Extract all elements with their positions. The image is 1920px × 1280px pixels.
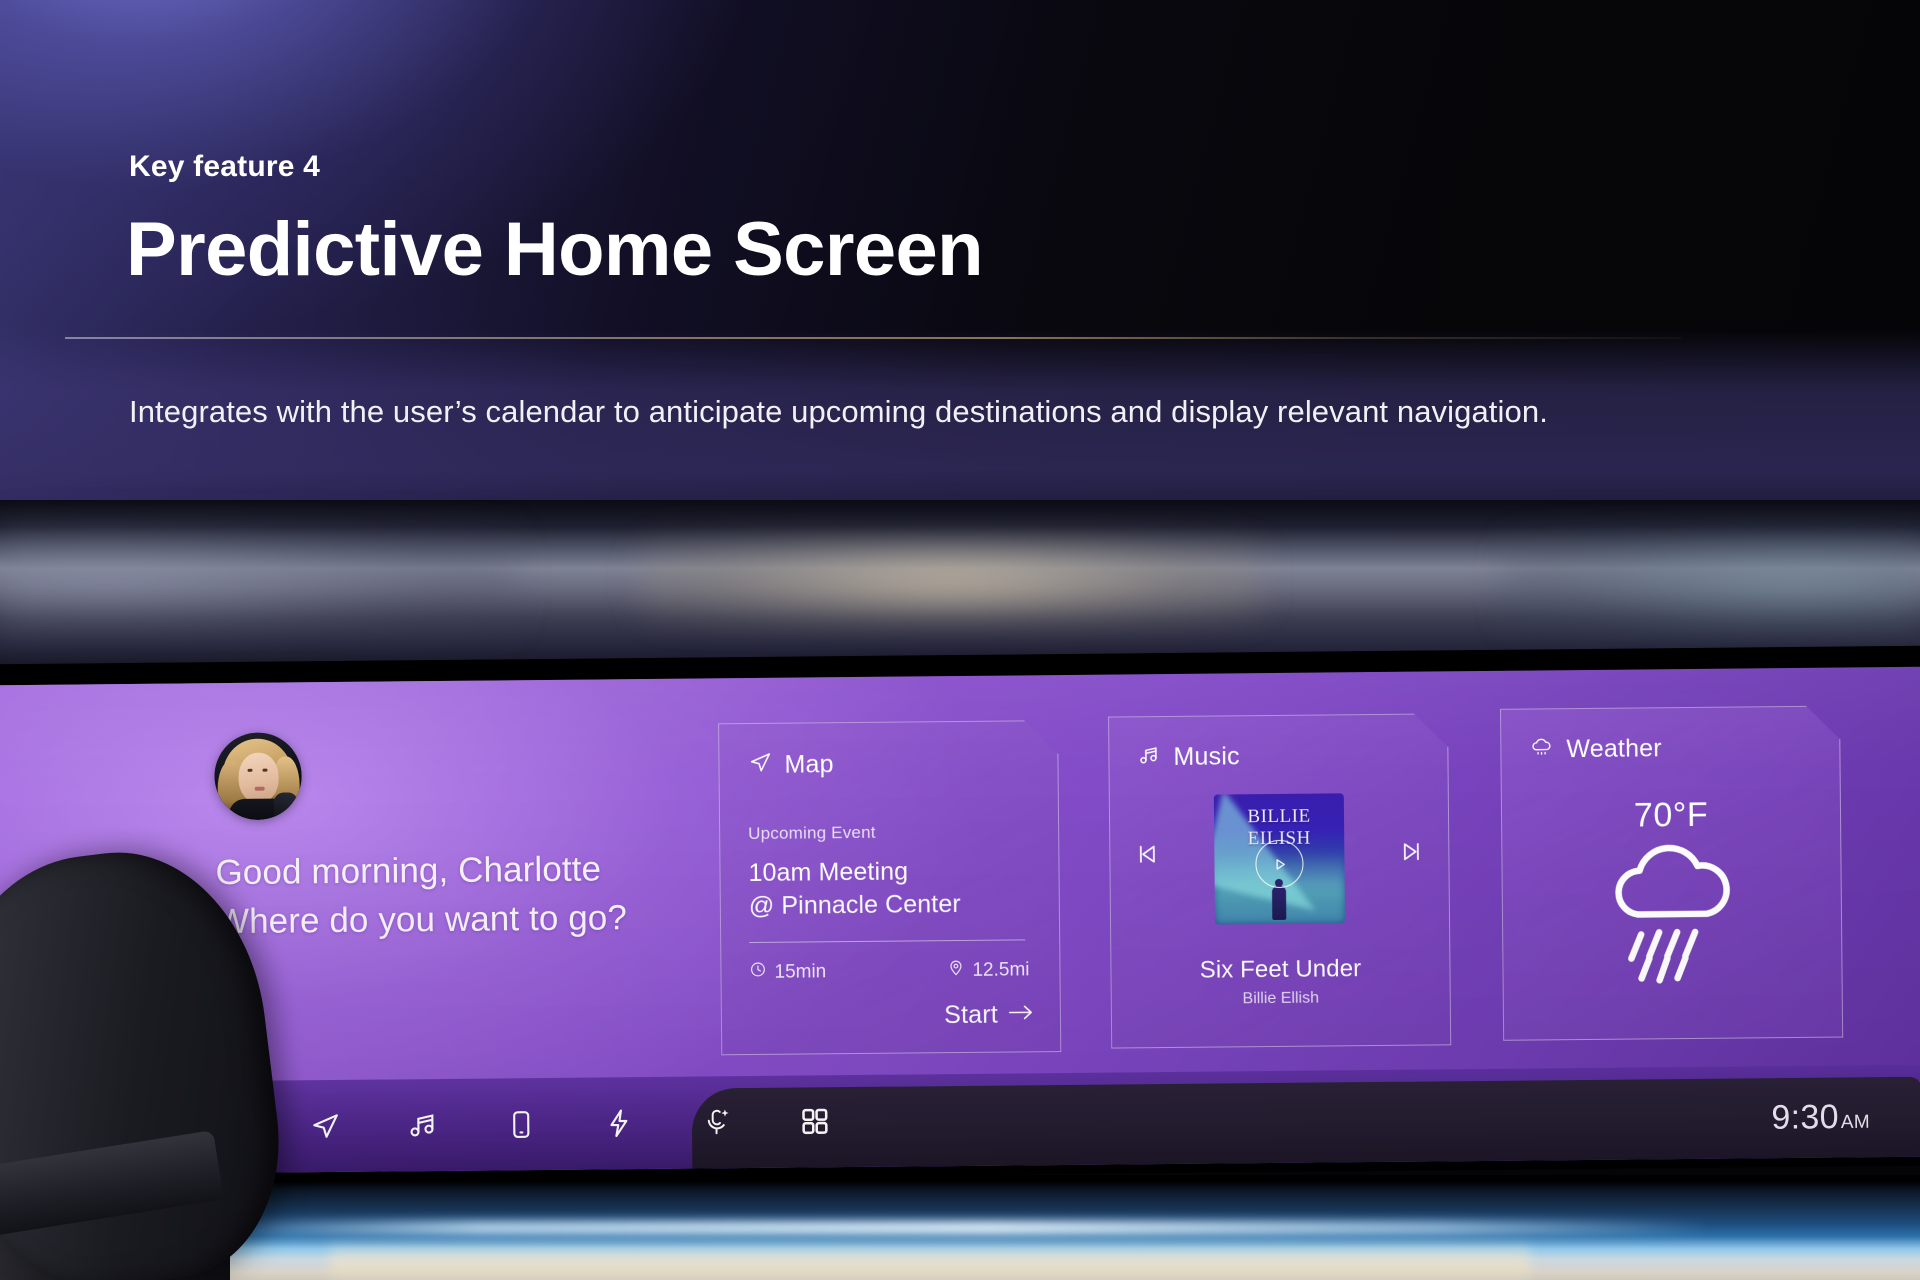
music-icon[interactable] bbox=[404, 1106, 442, 1144]
page-title: Predictive Home Screen bbox=[126, 211, 983, 289]
hero-section: Key feature 4 Predictive Home Screen Int… bbox=[0, 0, 1920, 530]
interior-left-glow bbox=[0, 520, 520, 640]
map-duration: 15min bbox=[749, 960, 826, 984]
voice-assistant-icon[interactable] bbox=[698, 1103, 736, 1141]
interior-right-glow bbox=[1500, 528, 1920, 638]
navigation-icon[interactable] bbox=[306, 1107, 344, 1145]
music-artist: Billie Ellish bbox=[1112, 988, 1450, 1009]
cloud-rain-icon bbox=[1596, 841, 1747, 993]
eyebrow-label: Key feature 4 bbox=[129, 150, 320, 184]
greeting-line-1: Good morning, Charlotte bbox=[215, 844, 626, 897]
map-kicker: Upcoming Event bbox=[748, 823, 876, 844]
taskbar: 9:30 AM bbox=[0, 1065, 1920, 1176]
infotainment-screen: Good morning, Charlotte Where do you wan… bbox=[0, 667, 1920, 1176]
music-card-header: Music bbox=[1137, 742, 1240, 772]
map-event-line-2: @ Pinnacle Center bbox=[749, 887, 961, 922]
page-subtitle: Integrates with the user’s calendar to a… bbox=[129, 389, 1749, 436]
map-event: 10am Meeting @ Pinnacle Center bbox=[748, 855, 961, 922]
clock-meridiem: AM bbox=[1841, 1112, 1870, 1134]
clock-icon bbox=[749, 961, 766, 984]
map-divider bbox=[749, 939, 1025, 943]
skip-previous-icon[interactable] bbox=[1134, 841, 1160, 872]
status-panel: 9:30 AM bbox=[692, 1077, 1920, 1169]
music-widget-card[interactable]: Music BILLIE EILISH bbox=[1108, 713, 1451, 1048]
clock-time: 9:30 bbox=[1771, 1098, 1839, 1138]
arrow-right-icon bbox=[1008, 1000, 1034, 1029]
music-card-title: Music bbox=[1173, 742, 1240, 772]
greeting-block: Good morning, Charlotte Where do you wan… bbox=[215, 844, 627, 946]
clock: 9:30 AM bbox=[1771, 1098, 1870, 1138]
charging-icon[interactable] bbox=[600, 1104, 638, 1142]
music-note-icon bbox=[1137, 743, 1161, 772]
greeting-line-2: Where do you want to go? bbox=[216, 893, 627, 946]
navigation-arrow-icon bbox=[747, 750, 772, 780]
apps-grid-icon[interactable] bbox=[796, 1102, 834, 1140]
ambient-light-streak bbox=[210, 1221, 1710, 1235]
dashboard-ambient-light bbox=[0, 1175, 1920, 1280]
dash-lower-light bbox=[330, 1242, 1530, 1280]
map-distance-value: 12.5mi bbox=[972, 959, 1029, 982]
taskbar-icons bbox=[208, 1102, 834, 1146]
map-metrics: 15min 12.5mi bbox=[749, 958, 1029, 984]
phone-icon[interactable] bbox=[502, 1105, 540, 1143]
music-track-title: Six Feet Under bbox=[1111, 954, 1449, 985]
skip-next-icon[interactable] bbox=[1398, 839, 1424, 870]
weather-card-header: Weather bbox=[1529, 734, 1662, 764]
avatar[interactable] bbox=[214, 732, 302, 820]
title-divider bbox=[65, 337, 1681, 339]
map-distance: 12.5mi bbox=[947, 958, 1029, 982]
screenshot-root: Key feature 4 Predictive Home Screen Int… bbox=[0, 0, 1920, 1280]
play-icon[interactable] bbox=[1255, 840, 1303, 888]
cloud-rain-small-icon bbox=[1529, 736, 1554, 763]
map-start-button[interactable]: Start bbox=[944, 1000, 1034, 1030]
map-event-line-1: 10am Meeting bbox=[748, 855, 960, 890]
map-duration-value: 15min bbox=[774, 961, 826, 983]
map-card-header: Map bbox=[747, 749, 834, 780]
weather-widget-card[interactable]: Weather 70°F bbox=[1500, 706, 1843, 1041]
map-pin-icon bbox=[947, 959, 964, 982]
weather-card-title: Weather bbox=[1566, 734, 1662, 764]
avatar-photo bbox=[214, 732, 302, 820]
weather-temperature: 70°F bbox=[1502, 795, 1840, 837]
map-widget-card[interactable]: Map Upcoming Event 10am Meeting @ Pinnac… bbox=[718, 720, 1061, 1055]
map-start-label: Start bbox=[944, 1001, 998, 1031]
map-card-title: Map bbox=[784, 750, 834, 779]
